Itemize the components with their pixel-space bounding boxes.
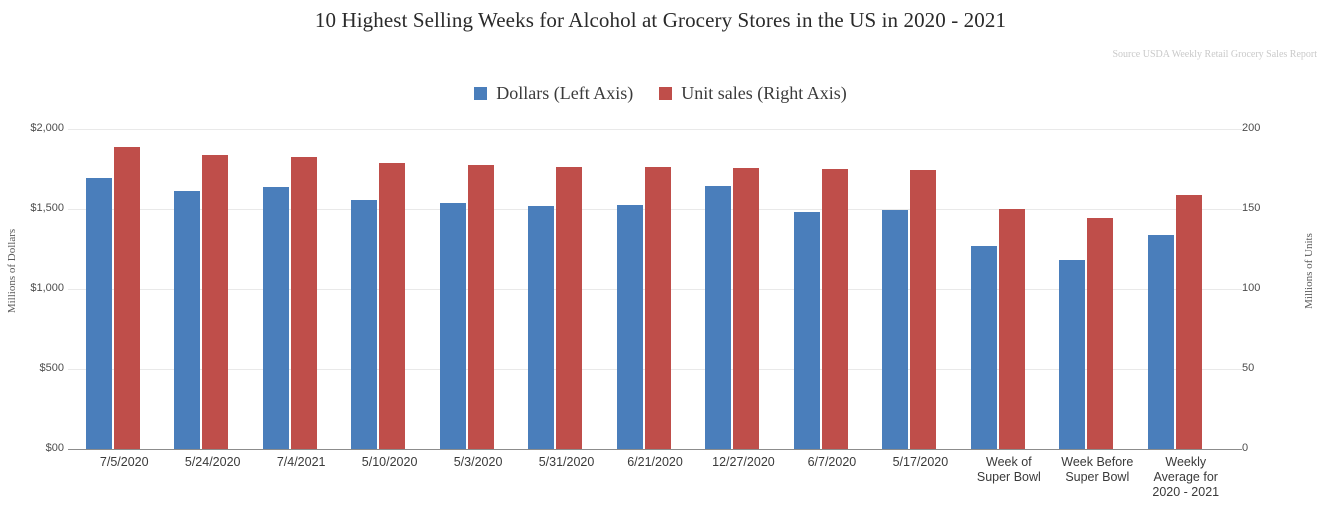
bar-dollars[interactable] [794, 212, 820, 449]
legend-swatch-unit-sales [659, 87, 672, 100]
bar-unit-sales[interactable] [114, 147, 140, 449]
bar-unit-sales[interactable] [999, 209, 1025, 449]
y-axis-left-tick-label: $500 [40, 363, 64, 374]
bar-group [1142, 129, 1230, 449]
bar-dollars[interactable] [86, 178, 112, 449]
y-axis-right-tick-label: 150 [1242, 203, 1260, 214]
bar-unit-sales[interactable] [202, 155, 228, 449]
bar-dollars[interactable] [1059, 260, 1085, 449]
x-axis-tick-label-line: 2020 - 2021 [1142, 485, 1230, 500]
y-tick-left [68, 209, 80, 210]
bar-dollars[interactable] [705, 186, 731, 449]
x-axis-tick-label-line: 5/24/2020 [168, 455, 256, 470]
y-axis-right-tick-label: 100 [1242, 283, 1260, 294]
bar-group [168, 129, 256, 449]
x-axis-tick-label-line: Super Bowl [965, 470, 1053, 485]
legend-item-unit-sales[interactable]: Unit sales (Right Axis) [659, 84, 847, 102]
x-axis-tick-label: 7/4/2021 [257, 455, 345, 470]
x-axis-tick-label-line: Super Bowl [1053, 470, 1141, 485]
bar-dollars[interactable] [882, 210, 908, 449]
bar-dollars[interactable] [174, 191, 200, 449]
bar-group [80, 129, 168, 449]
bar-unit-sales[interactable] [910, 170, 936, 449]
bar-group [788, 129, 876, 449]
bar-dollars[interactable] [971, 246, 997, 449]
x-axis-tick-label-line: 6/7/2020 [788, 455, 876, 470]
x-axis-tick-label: 5/10/2020 [345, 455, 433, 470]
y-tick-left [68, 129, 80, 130]
y-tick-left [68, 449, 80, 450]
x-axis-tick-label: 12/27/2020 [699, 455, 787, 470]
x-axis-tick-label: 7/5/2020 [80, 455, 168, 470]
x-axis-category-labels: 7/5/20205/24/20207/4/20215/10/20205/3/20… [80, 455, 1230, 507]
axis-baseline [80, 449, 1230, 450]
bar-unit-sales[interactable] [556, 167, 582, 449]
y-axis-right-tick-label: 0 [1242, 443, 1248, 454]
bar-group [965, 129, 1053, 449]
x-axis-tick-label: 5/3/2020 [434, 455, 522, 470]
x-axis-tick-label: WeeklyAverage for2020 - 2021 [1142, 455, 1230, 500]
bar-dollars[interactable] [263, 187, 289, 449]
bar-group [257, 129, 345, 449]
chart-container: 10 Highest Selling Weeks for Alcohol at … [0, 0, 1321, 507]
y-tick-right [1230, 449, 1242, 450]
chart-legend: Dollars (Left Axis) Unit sales (Right Ax… [0, 84, 1321, 102]
bar-group [876, 129, 964, 449]
x-axis-tick-label-line: 7/4/2021 [257, 455, 345, 470]
bar-unit-sales[interactable] [645, 167, 671, 449]
bars-layer [80, 129, 1230, 449]
y-axis-left-tick-label: $1,500 [30, 203, 64, 214]
y-axis-left-tick-label: $2,000 [30, 123, 64, 134]
x-axis-tick-label-line: 5/31/2020 [522, 455, 610, 470]
x-axis-tick-label-line: 6/21/2020 [611, 455, 699, 470]
y-axis-right-labels: 200150100500 [1242, 129, 1302, 449]
legend-item-dollars[interactable]: Dollars (Left Axis) [474, 84, 633, 102]
bar-group [611, 129, 699, 449]
x-axis-tick-label-line: Week of [965, 455, 1053, 470]
bar-dollars[interactable] [1148, 235, 1174, 449]
x-axis-tick-label-line: Average for [1142, 470, 1230, 485]
bar-group [1053, 129, 1141, 449]
chart-title: 10 Highest Selling Weeks for Alcohol at … [0, 8, 1321, 33]
bar-dollars[interactable] [528, 206, 554, 449]
bar-dollars[interactable] [617, 205, 643, 449]
y-axis-left-tick-label: $00 [46, 443, 64, 454]
x-axis-tick-label: 5/31/2020 [522, 455, 610, 470]
x-axis-tick-label: 6/21/2020 [611, 455, 699, 470]
bar-unit-sales[interactable] [379, 163, 405, 449]
y-tick-right [1230, 209, 1242, 210]
y-axis-left-tick-label: $1,000 [30, 283, 64, 294]
bar-unit-sales[interactable] [291, 157, 317, 449]
legend-swatch-dollars [474, 87, 487, 100]
bar-group [522, 129, 610, 449]
y-axis-right-title: Millions of Units [1303, 216, 1315, 326]
x-axis-tick-label-line: 12/27/2020 [699, 455, 787, 470]
bar-unit-sales[interactable] [733, 168, 759, 449]
y-axis-right-tick-label: 50 [1242, 363, 1254, 374]
bar-unit-sales[interactable] [822, 169, 848, 449]
bar-unit-sales[interactable] [1176, 195, 1202, 449]
y-tick-right [1230, 129, 1242, 130]
x-axis-tick-label: 6/7/2020 [788, 455, 876, 470]
x-axis-tick-label-line: Week Before [1053, 455, 1141, 470]
chart-source-note: Source USDA Weekly Retail Grocery Sales … [1112, 49, 1317, 60]
x-axis-tick-label: Week ofSuper Bowl [965, 455, 1053, 485]
legend-label-dollars: Dollars (Left Axis) [496, 84, 633, 102]
bar-unit-sales[interactable] [468, 165, 494, 449]
y-tick-left [68, 289, 80, 290]
x-axis-tick-label-line: 5/17/2020 [876, 455, 964, 470]
bar-group [699, 129, 787, 449]
legend-label-unit-sales: Unit sales (Right Axis) [681, 84, 847, 102]
bar-group [345, 129, 433, 449]
x-axis-tick-label: 5/24/2020 [168, 455, 256, 470]
y-axis-left-title: Millions of Dollars [6, 216, 18, 326]
x-axis-tick-label-line: 5/3/2020 [434, 455, 522, 470]
y-axis-right-tick-label: 200 [1242, 123, 1260, 134]
y-tick-right [1230, 289, 1242, 290]
x-axis-tick-label: 5/17/2020 [876, 455, 964, 470]
bar-dollars[interactable] [440, 203, 466, 449]
x-axis-tick-label-line: Weekly [1142, 455, 1230, 470]
y-tick-right [1230, 369, 1242, 370]
bar-dollars[interactable] [351, 200, 377, 449]
plot-area [80, 129, 1230, 449]
x-axis-tick-label: Week BeforeSuper Bowl [1053, 455, 1141, 485]
bar-group [434, 129, 522, 449]
y-tick-left [68, 369, 80, 370]
x-axis-tick-label-line: 5/10/2020 [345, 455, 433, 470]
x-axis-tick-label-line: 7/5/2020 [80, 455, 168, 470]
bar-unit-sales[interactable] [1087, 218, 1113, 449]
